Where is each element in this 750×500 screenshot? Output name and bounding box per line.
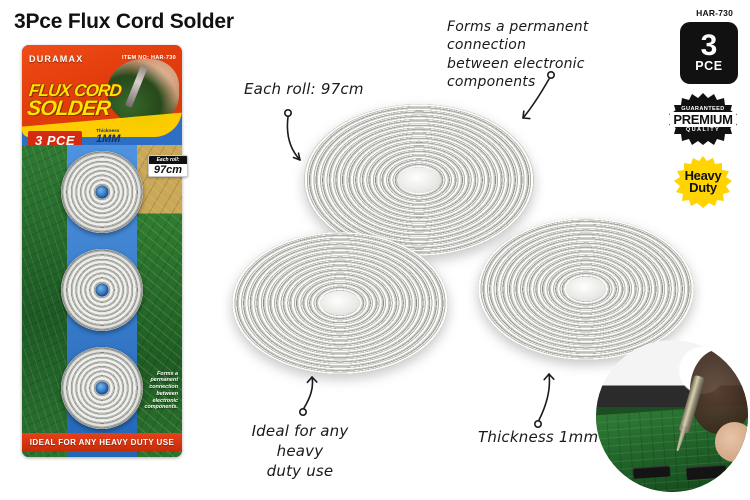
chip (686, 465, 727, 480)
heavy-duty-line2: Duty (685, 182, 722, 194)
soldering-inset-photo (596, 340, 748, 492)
badge-count-number: 3 (701, 33, 718, 59)
premium-quality-seal: GUARANTEED PREMIUM QUALITY (668, 92, 738, 146)
hand-secondary (715, 422, 748, 462)
chip (633, 465, 670, 479)
badge-count-unit: PCE (695, 59, 723, 73)
heavy-duty-text: Heavy Duty (685, 170, 722, 194)
seal-starburst-icon (668, 92, 738, 146)
badge-piece-count: 3 PCE (680, 22, 738, 84)
chip (617, 483, 642, 492)
product-image-canvas: 3Pce Flux Cord Solder DURAMAX ITEM NO: H… (0, 0, 750, 500)
soldering-iron-tip (675, 426, 688, 453)
badge-har-code: HAR-730 (696, 8, 733, 18)
heavy-duty-badge: Heavy Duty (673, 156, 733, 208)
